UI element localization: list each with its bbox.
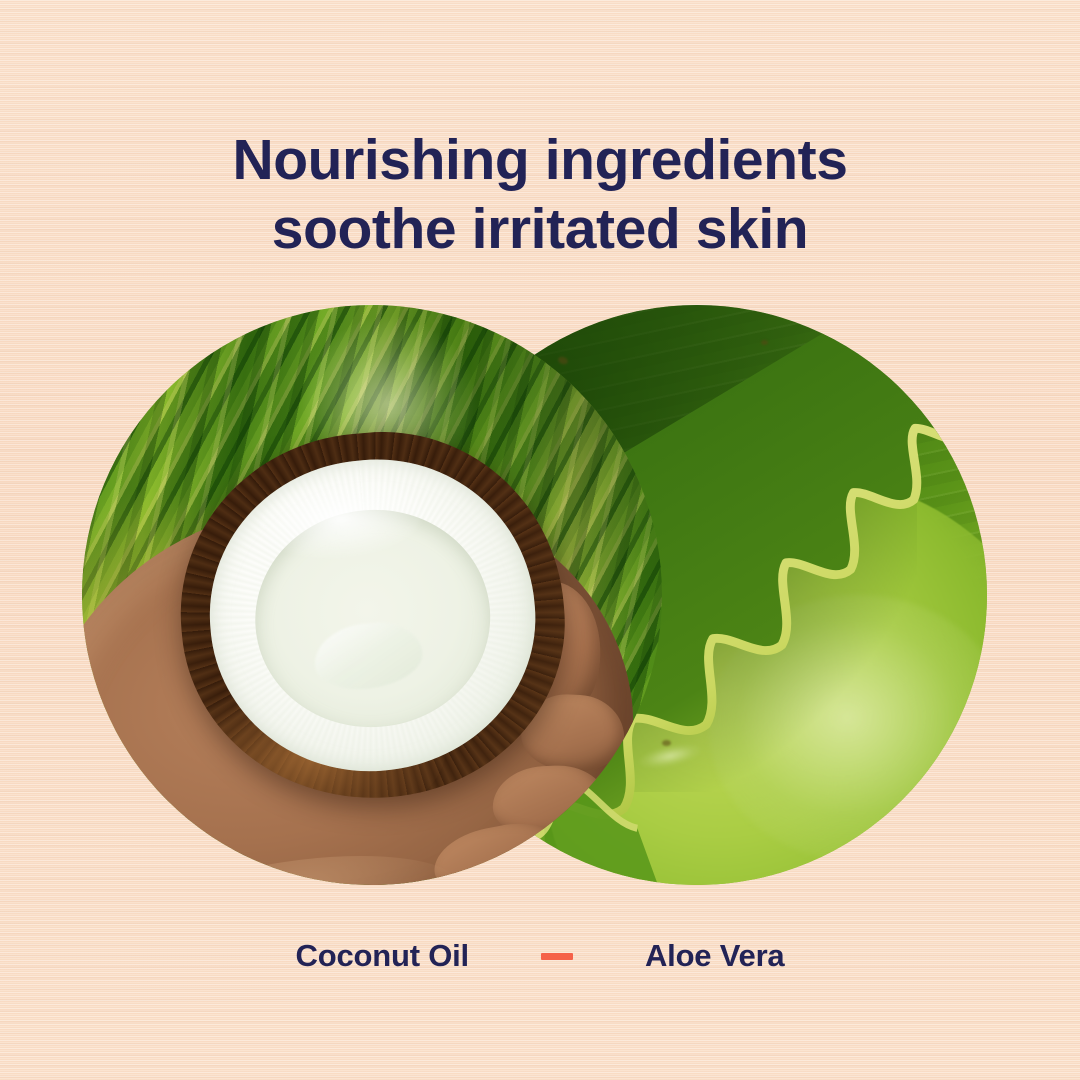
ingredient-poster: Nourishing ingredients soothe irritated …: [0, 0, 1080, 1080]
caption-coconut-oil: Coconut Oil: [296, 938, 469, 974]
caption-divider-dash: [541, 953, 573, 960]
coconut-photo-inner: [82, 305, 662, 885]
halved-coconut: [165, 417, 578, 814]
ingredient-caption-row: Coconut Oil Aloe Vera: [0, 938, 1080, 974]
ingredient-image-pair: [0, 0, 1080, 1080]
caption-aloe-vera: Aloe Vera: [645, 938, 785, 974]
coconut-oil-image: [82, 305, 662, 885]
aloe-leaf-spot: [761, 340, 768, 345]
coconut-flesh: [196, 446, 547, 784]
palm-of-hand: [143, 841, 465, 885]
coconut-cavity-sheen: [312, 619, 425, 693]
